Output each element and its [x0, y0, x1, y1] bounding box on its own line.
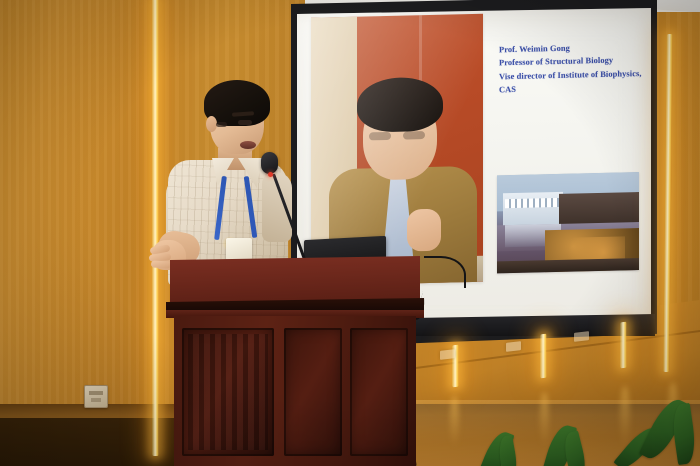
portrait-hair [357, 77, 443, 133]
stage-wall-plate-2 [440, 349, 455, 360]
light-switch-plate[interactable] [84, 385, 108, 408]
stage-wall-plate-4 [574, 331, 589, 342]
switch-rocker-bottom [91, 398, 101, 402]
portrait-eye-right [403, 131, 425, 140]
stage-wall-plate-3 [506, 341, 521, 352]
slide-text-block: Prof. Weimin Gong Professor of Structura… [499, 40, 649, 97]
slide-building-photo [497, 172, 639, 273]
speaker-mouth [240, 141, 256, 149]
speaker-eye-right [238, 120, 252, 125]
podium-panel-right [350, 328, 408, 456]
photo-treeline [559, 192, 639, 226]
stage-light-strip-3 [620, 322, 627, 369]
floor-light-reflection-2 [540, 392, 549, 448]
podium-panel-left [182, 328, 274, 456]
stage-light-strip-2 [540, 334, 547, 379]
portrait-hand [407, 209, 441, 252]
name-badge [226, 238, 252, 260]
switch-rocker-top [89, 391, 103, 395]
microphone-indicator-light [268, 172, 273, 177]
photo-scene: Prof. Weimin Gong Professor of Structura… [0, 0, 700, 466]
floor-light-reflection-3 [620, 386, 630, 448]
portrait-eye-left [369, 132, 391, 141]
microphone-head [261, 152, 278, 174]
photo-foreground [497, 258, 639, 273]
podium-body [174, 316, 416, 466]
speaker-finger-3 [151, 260, 171, 268]
podium-panel-middle [284, 328, 342, 456]
speaker-eye-left [216, 122, 227, 127]
floor-light-reflection-1 [450, 396, 459, 448]
podium-panel-grooves [188, 334, 268, 450]
wall-light-strip-left [152, 0, 159, 456]
wall-left [0, 0, 160, 466]
floor-left-dark [0, 418, 200, 466]
photo-building [503, 192, 563, 227]
